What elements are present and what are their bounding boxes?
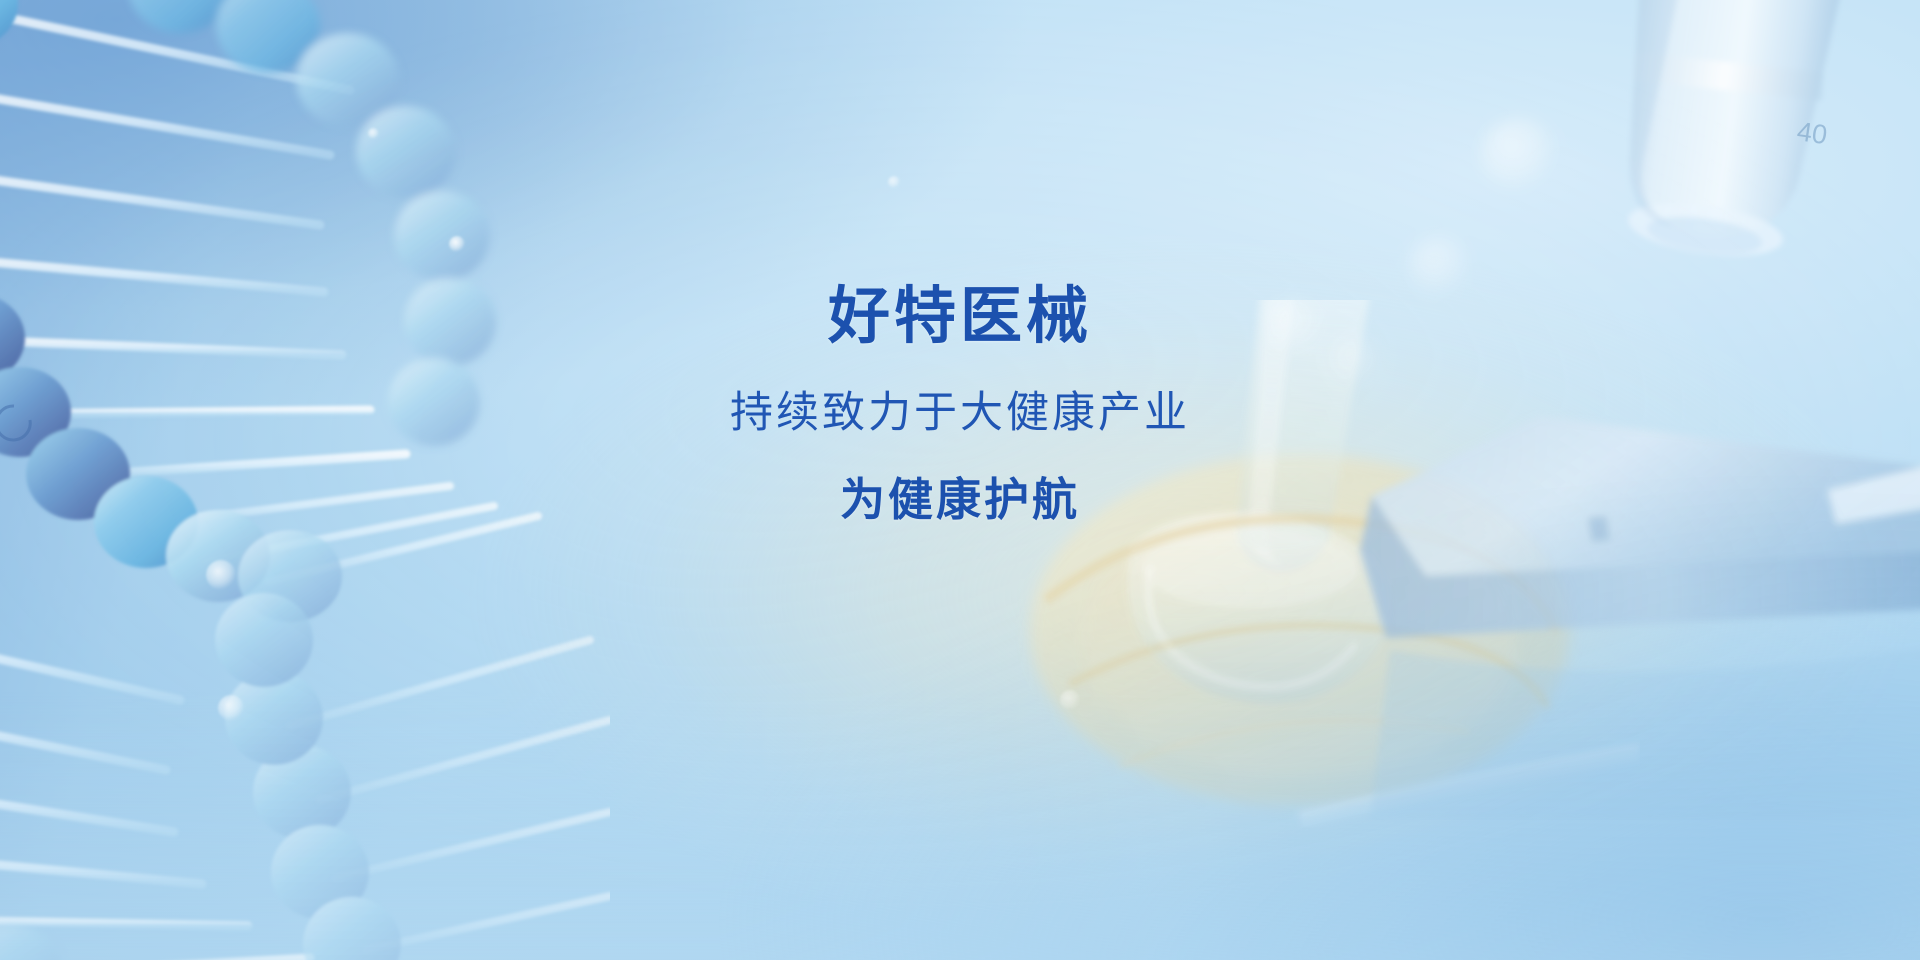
bokeh-dot [206,560,236,590]
page-title: 好特医械 [0,286,1920,348]
bokeh-dot [1060,690,1080,710]
hero-slogan: 为健康护航 [0,477,1920,522]
bokeh-dot [1480,118,1558,190]
microscope-magnification-label: 40 [1795,116,1829,150]
hero-text-block: 好特医械 持续致力于大健康产业 为健康护航 [0,286,1920,522]
bokeh-dot [368,128,379,139]
bokeh-dot [218,695,244,721]
hero-tagline: 持续致力于大健康产业 [0,392,1920,435]
bokeh-dot [888,176,900,188]
hero-banner: 40 [0,0,1920,960]
bokeh-dot [449,236,465,252]
